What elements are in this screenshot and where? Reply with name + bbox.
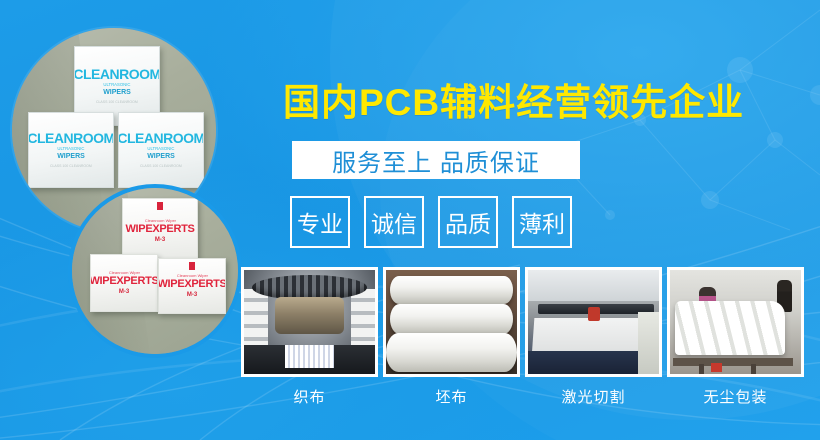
process-item-greige-fabric[interactable]: 坯布 <box>383 267 520 407</box>
process-photo-frame <box>525 267 662 377</box>
pack-line1: ULTRASONIC <box>57 147 84 151</box>
table-leg <box>751 364 756 374</box>
pack-line3: CLASS 100 CLEANROOM <box>50 165 92 169</box>
wipe-pack: CLEANROOM ULTRASONIC WIPERS CLASS 100 CL… <box>28 112 114 188</box>
pack-line1: ULTRASONIC <box>147 147 174 151</box>
process-caption: 激光切割 <box>561 386 625 407</box>
pack-brand: CLEANROOM <box>28 131 114 145</box>
pack-line1: Cleanroom Wiper <box>108 272 139 276</box>
pack-brand: WIPEXPERTS <box>90 276 158 287</box>
wipexperts-pack: Cleanroom Wiper WIPEXPERTS M-3 <box>90 254 158 312</box>
laser-cutter-photo <box>528 270 659 374</box>
pack-line3: CLASS 100 CLEANROOM <box>96 101 138 105</box>
wipe-pack: CLEANROOM ULTRASONIC WIPERS CLASS 100 CL… <box>118 112 204 188</box>
pack-model: M-3 <box>119 289 129 295</box>
pack-line3: CLASS 100 CLEANROOM <box>140 165 182 169</box>
process-photo-strip: 织布 坯布 <box>241 267 804 407</box>
keyword-chip-baoli[interactable]: 薄利 <box>512 196 572 248</box>
slogan-box: 服务至上 品质保证 <box>292 141 580 179</box>
fabric-roll <box>390 304 513 334</box>
fabric-roll <box>390 276 513 304</box>
fabric-roll <box>386 333 517 371</box>
pack-model: M-3 <box>187 292 197 298</box>
pack-line1: Cleanroom Wiper <box>144 220 175 224</box>
packed-bags <box>675 301 785 355</box>
slogan-text: 服务至上 品质保证 <box>332 143 540 178</box>
red-seal-mark <box>189 262 195 270</box>
product-circle-wipexperts: Cleanroom Wiper WIPEXPERTS M-3 Cleanroom… <box>72 188 238 354</box>
pack-brand: CLEANROOM <box>74 67 160 81</box>
process-photo-frame <box>667 267 804 377</box>
process-caption: 坯布 <box>435 386 467 407</box>
laser-head <box>588 307 600 321</box>
process-caption: 无尘包装 <box>703 386 767 407</box>
table-leg <box>699 364 704 374</box>
keyword-chip-chengxin[interactable]: 诚信 <box>364 196 424 248</box>
process-item-laser-cutting[interactable]: 激光切割 <box>525 267 662 407</box>
keyword-chip-pinzhi[interactable]: 品质 <box>438 196 498 248</box>
process-item-cleanroom-packing[interactable]: 无尘包装 <box>667 267 804 407</box>
pack-line2: WIPERS <box>57 153 85 160</box>
process-photo-frame <box>383 267 520 377</box>
room-wall <box>528 270 659 301</box>
work-table <box>673 358 794 365</box>
process-photo-frame <box>241 267 378 377</box>
pack-line1: ULTRASONIC <box>103 83 130 87</box>
packing-room-photo <box>670 270 801 374</box>
promo-banner: CLEANROOM ULTRASONIC WIPERS CLASS 100 CL… <box>0 0 820 440</box>
pack-brand: CLEANROOM <box>118 131 204 145</box>
wipexperts-pack: Cleanroom Wiper WIPEXPERTS M-3 <box>158 258 226 314</box>
pack-line2: WIPERS <box>147 153 175 160</box>
pack-line2: WIPERS <box>103 89 131 96</box>
red-seal-mark <box>157 202 163 210</box>
pack-model: M-3 <box>155 237 165 243</box>
process-caption: 织布 <box>293 386 325 407</box>
red-stool <box>711 363 723 372</box>
machine-drum <box>275 297 343 334</box>
pack-brand: WIPEXPERTS <box>125 224 194 235</box>
pack-brand: WIPEXPERTS <box>158 279 226 290</box>
knitted-fabric <box>285 345 335 368</box>
fabric-rolls-photo <box>386 270 517 374</box>
control-panel <box>638 312 659 374</box>
keyword-chip-group: 专业 诚信 品质 薄利 <box>290 196 572 248</box>
process-item-weaving[interactable]: 织布 <box>241 267 378 407</box>
knitting-machine-photo <box>244 270 375 374</box>
pack-line1: Cleanroom Wiper <box>176 275 207 279</box>
banner-headline: 国内PCB辅料经营领先企业 <box>283 72 744 126</box>
keyword-chip-zhuanye[interactable]: 专业 <box>290 196 350 248</box>
